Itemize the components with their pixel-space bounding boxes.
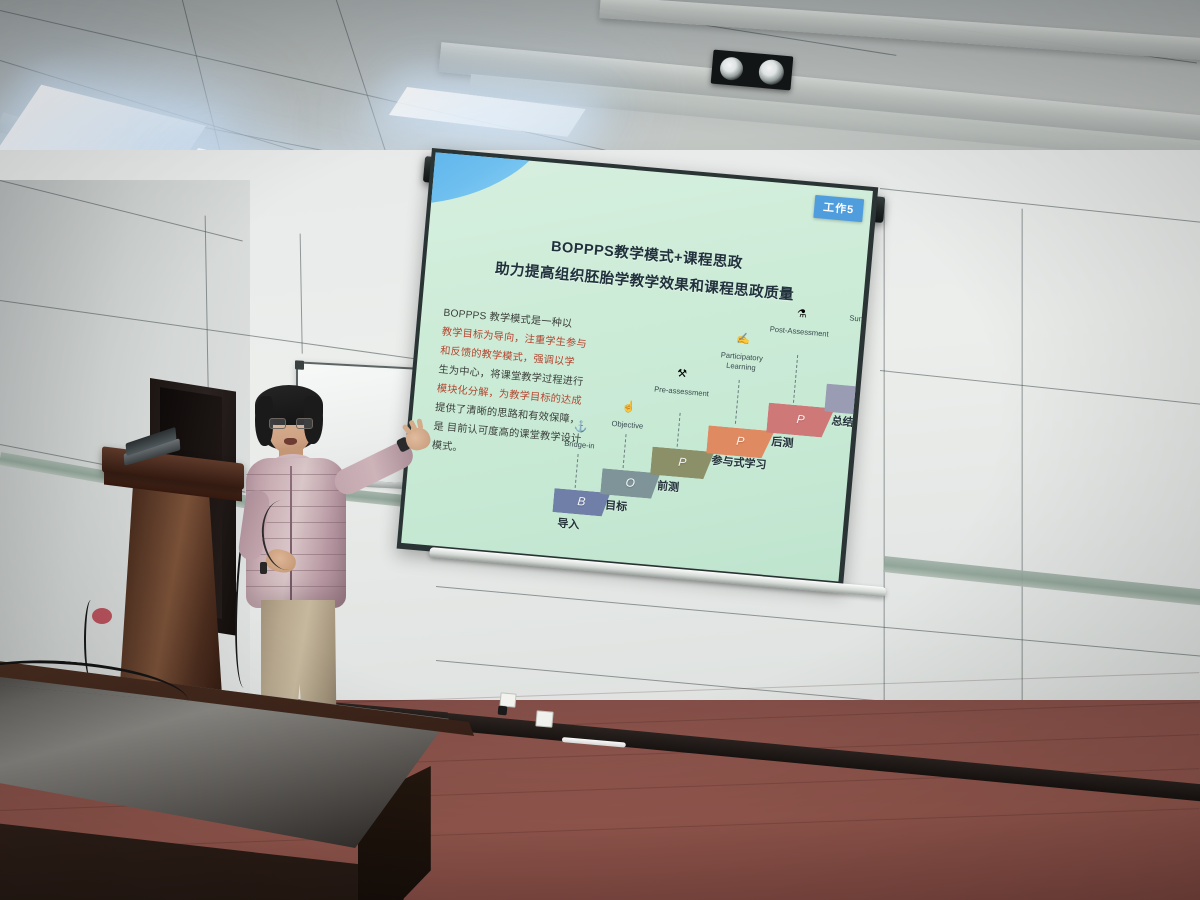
- recessed-dual-spotlight-right: [711, 50, 794, 91]
- anchor-icon: ⚓: [570, 419, 593, 434]
- step-label-en: Summary: [838, 312, 873, 326]
- step-label-en: Objective: [604, 418, 651, 432]
- boppps-staircase-diagram: B 导入 ⚓ Bridge-in O 目标 ☝ Objective: [552, 273, 870, 560]
- slide-badge-work: 工作5: [813, 195, 864, 222]
- step-letter: O: [601, 473, 660, 492]
- presentation-slide: 工作5 BOPPPS教学模式+课程思政 助力提高组织胚胎学教学效果和课程思政质量…: [401, 152, 873, 581]
- screen-surface-frame: 工作5 BOPPPS教学模式+课程思政 助力提高组织胚胎学教学效果和课程思政质量…: [397, 148, 879, 588]
- step-label-en: Pre-assessment: [647, 384, 716, 399]
- person-sitting-icon: ♟: [856, 294, 873, 309]
- step-label-en: Bridge-in: [556, 438, 603, 452]
- step-letter: P: [707, 431, 774, 451]
- step-label-cn: 目标: [605, 497, 628, 515]
- hand-point-icon: ☝: [617, 399, 640, 414]
- step-letter: P: [767, 409, 834, 429]
- step-label-cn: 前测: [656, 477, 679, 495]
- step-label-en: Participatory Learning: [708, 349, 775, 374]
- mouth: [284, 438, 297, 445]
- alembic-icon: ⚗: [790, 306, 813, 321]
- step-letter: S: [825, 390, 873, 410]
- step-letter: B: [553, 492, 610, 511]
- step-label-cn: 后测: [771, 433, 794, 451]
- spotlight-bulb: [758, 58, 785, 85]
- foreground-table: [0, 648, 520, 900]
- step-label-cn: 参与式学习: [711, 452, 767, 473]
- step-label-en: Post-Assessment: [767, 324, 832, 339]
- step-label-cn: 总结: [831, 412, 854, 430]
- clip-microphone: [260, 562, 267, 574]
- spotlight-bulb: [719, 56, 744, 81]
- classroom-photo-scene: 工作5 BOPPPS教学模式+课程思政 助力提高组织胚胎学教学效果和课程思政质量…: [0, 0, 1200, 900]
- step-label-cn: 导入: [557, 515, 580, 533]
- step-letter: P: [651, 452, 714, 471]
- staircase-step-pre-assessment: P: [650, 447, 714, 480]
- red-cable-coil: [92, 608, 112, 624]
- tools-icon: ⚒: [671, 366, 694, 381]
- projection-screen: 工作5 BOPPPS教学模式+课程思政 助力提高组织胚胎学教学效果和课程思政质量…: [432, 148, 884, 578]
- glasses: [269, 418, 313, 429]
- wall-outlet: [535, 710, 553, 727]
- writing-hand-icon: ✍: [732, 331, 755, 346]
